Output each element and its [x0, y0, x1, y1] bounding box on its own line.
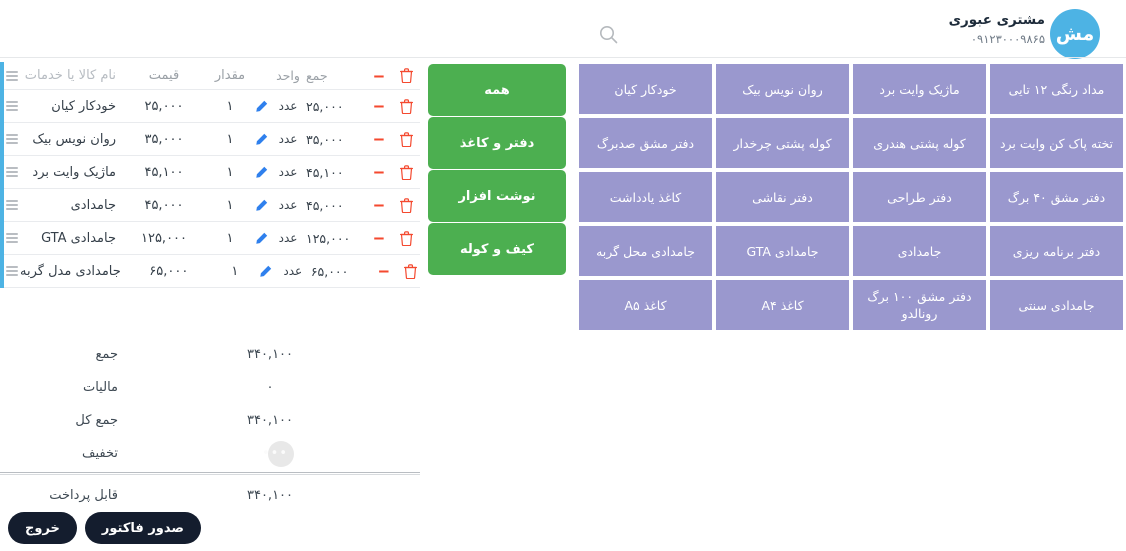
cell-name: جامدادی GTA	[20, 231, 118, 246]
trash-icon[interactable]	[397, 264, 425, 279]
product-grid-row: کاغذ یادداشت دفتر نقاشی دفتر طراحی دفتر …	[576, 171, 1124, 225]
product-tile[interactable]: کاغذ A۵	[578, 279, 713, 331]
decrease-icon[interactable]: ‒	[366, 134, 392, 144]
product-tile[interactable]: جامدادی محل گربه	[578, 225, 713, 277]
discount-value: ۰ •••	[120, 446, 420, 461]
drag-handle-icon[interactable]	[4, 266, 20, 276]
tax-label: مالیات	[0, 380, 120, 395]
drag-handle-icon[interactable]	[4, 101, 20, 111]
product-tile[interactable]: دفتر مشق ۱۰۰ برگ رونالدو	[852, 279, 987, 331]
table-row[interactable]: جامدادی ۴۵,۰۰۰ ۱ عدد ۴۵,۰۰۰ ‒	[0, 189, 420, 222]
product-grid-row: خودکار کیان روان نویس بیک ماژیک وایت برد…	[576, 63, 1124, 117]
cell-quantity: ۱	[210, 165, 250, 180]
cell-quantity: ۱	[210, 198, 250, 213]
footer-actions: خروج صدور فاکتور	[8, 512, 201, 544]
product-grid: خودکار کیان روان نویس بیک ماژیک وایت برد…	[576, 63, 1124, 333]
product-tile[interactable]: جامدادی GTA	[715, 225, 850, 277]
cell-sum: ۴۵,۱۰۰	[304, 165, 366, 180]
cell-price: ۴۵,۱۰۰	[118, 165, 210, 180]
cell-name: خودکار کیان	[20, 99, 118, 114]
column-header-unit: واحد	[272, 68, 304, 83]
product-tile[interactable]: کوله پشتی چرخدار	[715, 117, 850, 169]
drag-handle-icon[interactable]	[4, 167, 20, 177]
cell-sum: ۳۵,۰۰۰	[304, 132, 366, 147]
cell-price: ۲۵,۰۰۰	[118, 99, 210, 114]
decrease-icon[interactable]: ‒	[366, 71, 392, 81]
product-tile[interactable]: جامدادی سنتی	[989, 279, 1124, 331]
decrease-icon[interactable]: ‒	[366, 167, 392, 177]
cell-quantity: ۱	[210, 99, 250, 114]
column-header-price: قیمت	[118, 68, 210, 83]
trash-icon[interactable]	[392, 132, 420, 147]
customer-name: مشتری عبوری	[940, 10, 1045, 30]
row-accent-bar	[0, 222, 4, 255]
customer-phone: ۰۹۱۲۳۰۰۰۹۸۶۵	[940, 30, 1045, 48]
drag-handle-icon	[4, 71, 20, 81]
row-accent-bar	[0, 62, 4, 90]
grand-total-value: ۳۴۰,۱۰۰	[120, 413, 420, 428]
edit-icon[interactable]	[250, 133, 272, 146]
trash-icon[interactable]	[392, 99, 420, 114]
cell-price: ۶۵,۰۰۰	[123, 264, 215, 279]
product-tile[interactable]: جامدادی	[852, 225, 987, 277]
category-button-paper[interactable]: دفتر و کاغذ	[428, 117, 566, 169]
edit-icon[interactable]	[255, 265, 277, 278]
drag-handle-icon[interactable]	[4, 200, 20, 210]
table-header-row: نام کالا یا خدمات قیمت مقدار واحد جمع ‒	[0, 62, 420, 90]
trash-icon[interactable]	[392, 165, 420, 180]
customer-info[interactable]: مشتری عبوری ۰۹۱۲۳۰۰۰۹۸۶۵	[940, 10, 1045, 48]
pos-screen: مش مشتری عبوری ۰۹۱۲۳۰۰۰۹۸۶۵ خودکار کیان …	[0, 0, 1126, 551]
cell-quantity: ۱	[210, 132, 250, 147]
decrease-icon[interactable]: ‒	[366, 233, 392, 243]
invoice-table: نام کالا یا خدمات قیمت مقدار واحد جمع ‒ …	[0, 62, 420, 288]
grand-total-label: جمع کل	[0, 413, 120, 428]
table-row[interactable]: روان نویس بیک ۳۵,۰۰۰ ۱ عدد ۳۵,۰۰۰ ‒	[0, 123, 420, 156]
category-button-bags[interactable]: کیف و کوله	[428, 223, 566, 275]
product-tile[interactable]: کوله پشتی هندری	[852, 117, 987, 169]
cell-sum: ۴۵,۰۰۰	[304, 198, 366, 213]
subtotal-label: جمع	[0, 347, 120, 362]
totals-row-payable: قابل پرداخت ۳۴۰,۱۰۰	[0, 479, 420, 512]
header: مش مشتری عبوری ۰۹۱۲۳۰۰۰۹۸۶۵	[0, 0, 1126, 58]
cell-unit: عدد	[272, 231, 304, 245]
totals-panel: جمع ۳۴۰,۱۰۰ مالیات ۰ جمع کل ۳۴۰,۱۰۰ تخفی…	[0, 338, 420, 512]
issue-invoice-button[interactable]: صدور فاکتور	[85, 512, 201, 544]
totals-divider	[0, 472, 420, 475]
cell-price: ۳۵,۰۰۰	[118, 132, 210, 147]
product-tile[interactable]: دفتر طراحی	[852, 171, 987, 223]
product-tile[interactable]: ماژیک وایت برد	[852, 63, 987, 115]
payable-value: ۳۴۰,۱۰۰	[120, 488, 420, 503]
product-tile[interactable]: مداد رنگی ۱۲ تایی	[989, 63, 1124, 115]
header-divider	[0, 57, 1126, 58]
row-accent-bar	[0, 90, 4, 123]
totals-row-grand: جمع کل ۳۴۰,۱۰۰	[0, 404, 420, 437]
product-tile[interactable]: دفتر برنامه ریزی	[989, 225, 1124, 277]
decrease-icon[interactable]: ‒	[366, 200, 392, 210]
product-tile[interactable]: کاغذ A۴	[715, 279, 850, 331]
cell-unit: عدد	[272, 132, 304, 146]
cell-name: ماژیک وایت برد	[20, 165, 118, 180]
trash-icon[interactable]	[392, 198, 420, 213]
avatar: مش	[1050, 9, 1100, 59]
column-header-name: نام کالا یا خدمات	[20, 68, 118, 83]
cell-name: جامدادی	[20, 198, 118, 213]
totals-row-discount: تخفیف ۰ •••	[0, 437, 420, 470]
product-grid-row: دفتر مشق صدبرگ کوله پشتی چرخدار کوله پشت…	[576, 117, 1124, 171]
cell-quantity: ۱	[210, 231, 250, 246]
exit-button[interactable]: خروج	[8, 512, 77, 544]
row-accent-bar	[0, 255, 4, 288]
product-tile[interactable]: روان نویس بیک	[715, 63, 850, 115]
product-tile[interactable]: دفتر مشق ۴۰ برگ	[989, 171, 1124, 223]
product-tile[interactable]: دفتر نقاشی	[715, 171, 850, 223]
search-icon[interactable]	[592, 24, 620, 52]
row-accent-bar	[0, 156, 4, 189]
table-row[interactable]: خودکار کیان ۲۵,۰۰۰ ۱ عدد ۲۵,۰۰۰ ‒	[0, 90, 420, 123]
cell-price: ۴۵,۰۰۰	[118, 198, 210, 213]
row-accent-bar	[0, 189, 4, 222]
category-list: همه دفتر و کاغذ نوشت افزار کیف و کوله	[428, 64, 566, 276]
totals-row-subtotal: جمع ۳۴۰,۱۰۰	[0, 338, 420, 371]
product-tile[interactable]: کاغذ یادداشت	[578, 171, 713, 223]
drag-handle-icon[interactable]	[4, 233, 20, 243]
drag-handle-icon[interactable]	[4, 134, 20, 144]
trash-icon[interactable]	[392, 68, 420, 83]
product-tile[interactable]: دفتر مشق صدبرگ	[578, 117, 713, 169]
totals-row-tax: مالیات ۰	[0, 371, 420, 404]
cell-sum: ۱۲۵,۰۰۰	[304, 231, 366, 246]
payable-label: قابل پرداخت	[0, 488, 120, 503]
column-header-quantity: مقدار	[210, 68, 250, 83]
edit-icon[interactable]	[250, 199, 272, 212]
table-row[interactable]: ماژیک وایت برد ۴۵,۱۰۰ ۱ عدد ۴۵,۱۰۰ ‒	[0, 156, 420, 189]
category-button-stationery[interactable]: نوشت افزار	[428, 170, 566, 222]
product-tile[interactable]: خودکار کیان	[578, 63, 713, 115]
cell-unit: عدد	[272, 165, 304, 179]
product-grid-row: جامدادی محل گربه جامدادی GTA جامدادی دفت…	[576, 225, 1124, 279]
table-row[interactable]: جامدادی GTA ۱۲۵,۰۰۰ ۱ عدد ۱۲۵,۰۰۰ ‒	[0, 222, 420, 255]
cell-name: جامدادی مدل گربه	[20, 264, 123, 279]
product-tile[interactable]: تخته پاک کن وایت برد	[989, 117, 1124, 169]
discount-label: تخفیف	[0, 446, 120, 461]
product-grid-row: کاغذ A۵ کاغذ A۴ دفتر مشق ۱۰۰ برگ رونالدو…	[576, 279, 1124, 333]
tax-value: ۰	[120, 380, 420, 395]
cell-unit: عدد	[272, 99, 304, 113]
cell-unit: عدد	[277, 264, 309, 278]
decrease-icon[interactable]: ‒	[371, 266, 397, 276]
cell-sum: ۶۵,۰۰۰	[309, 264, 371, 279]
trash-icon[interactable]	[392, 231, 420, 246]
column-header-sum: جمع	[304, 68, 366, 83]
edit-icon[interactable]	[250, 166, 272, 179]
discount-options-button[interactable]: •••	[268, 441, 294, 467]
category-button-all[interactable]: همه	[428, 64, 566, 116]
edit-icon[interactable]	[250, 100, 272, 113]
table-row[interactable]: جامدادی مدل گربه ۶۵,۰۰۰ ۱ عدد ۶۵,۰۰۰ ‒	[0, 255, 420, 288]
edit-icon[interactable]	[250, 232, 272, 245]
subtotal-value: ۳۴۰,۱۰۰	[120, 347, 420, 362]
cell-price: ۱۲۵,۰۰۰	[118, 231, 210, 246]
cell-sum: ۲۵,۰۰۰	[304, 99, 366, 114]
decrease-icon[interactable]: ‒	[366, 101, 392, 111]
cell-name: روان نویس بیک	[20, 132, 118, 147]
cell-unit: عدد	[272, 198, 304, 212]
row-accent-bar	[0, 123, 4, 156]
cell-quantity: ۱	[215, 264, 255, 279]
